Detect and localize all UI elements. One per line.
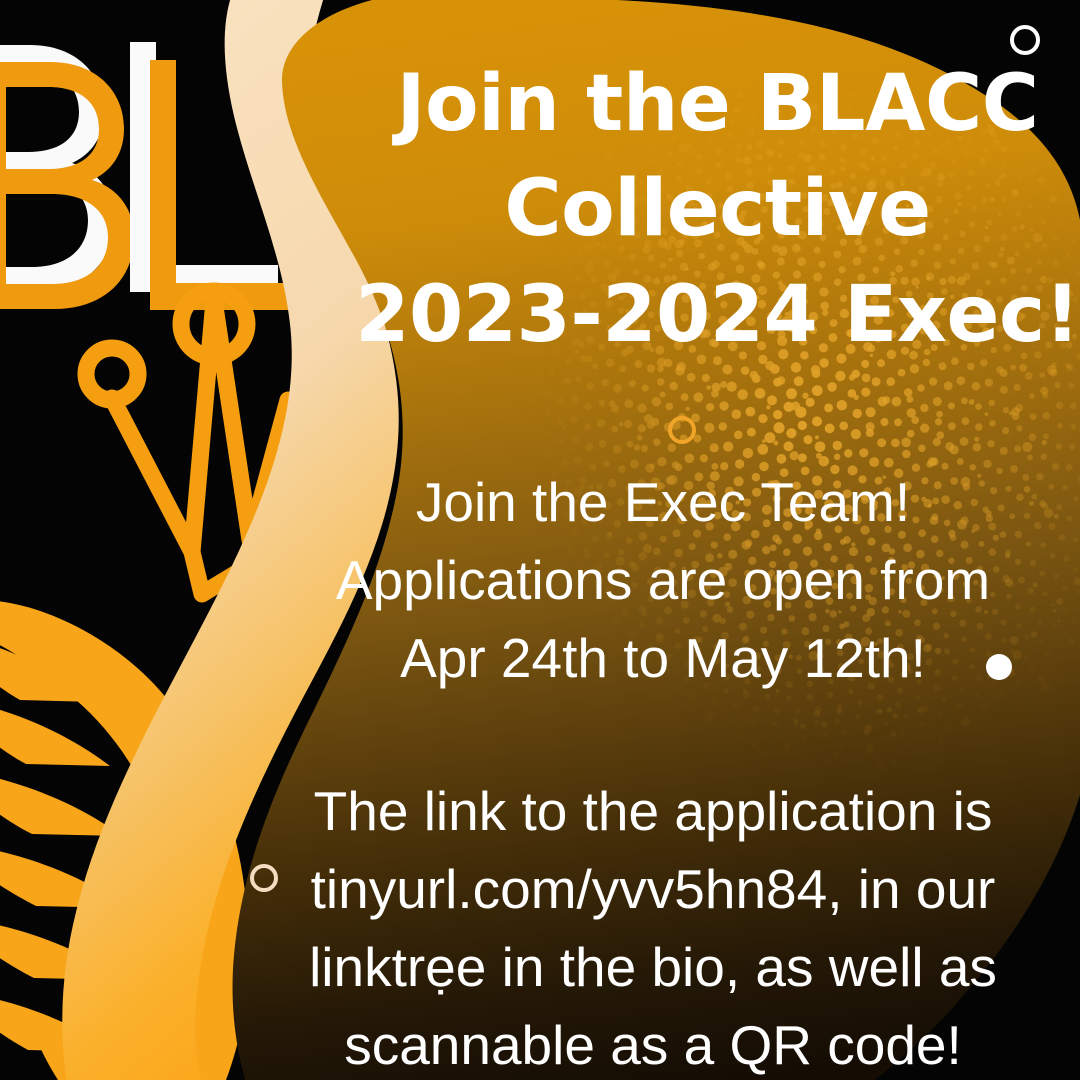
poster-canvas: Join the BLACC Collective 2023-2024 Exec… — [0, 0, 1080, 1080]
circle-right-white-filled-icon — [986, 654, 1012, 680]
circle-left-cream-icon — [250, 864, 278, 892]
circle-mid-orange-icon — [668, 416, 696, 444]
circle-top-right-white-icon — [1010, 25, 1040, 55]
background-artwork — [0, 0, 1080, 1080]
